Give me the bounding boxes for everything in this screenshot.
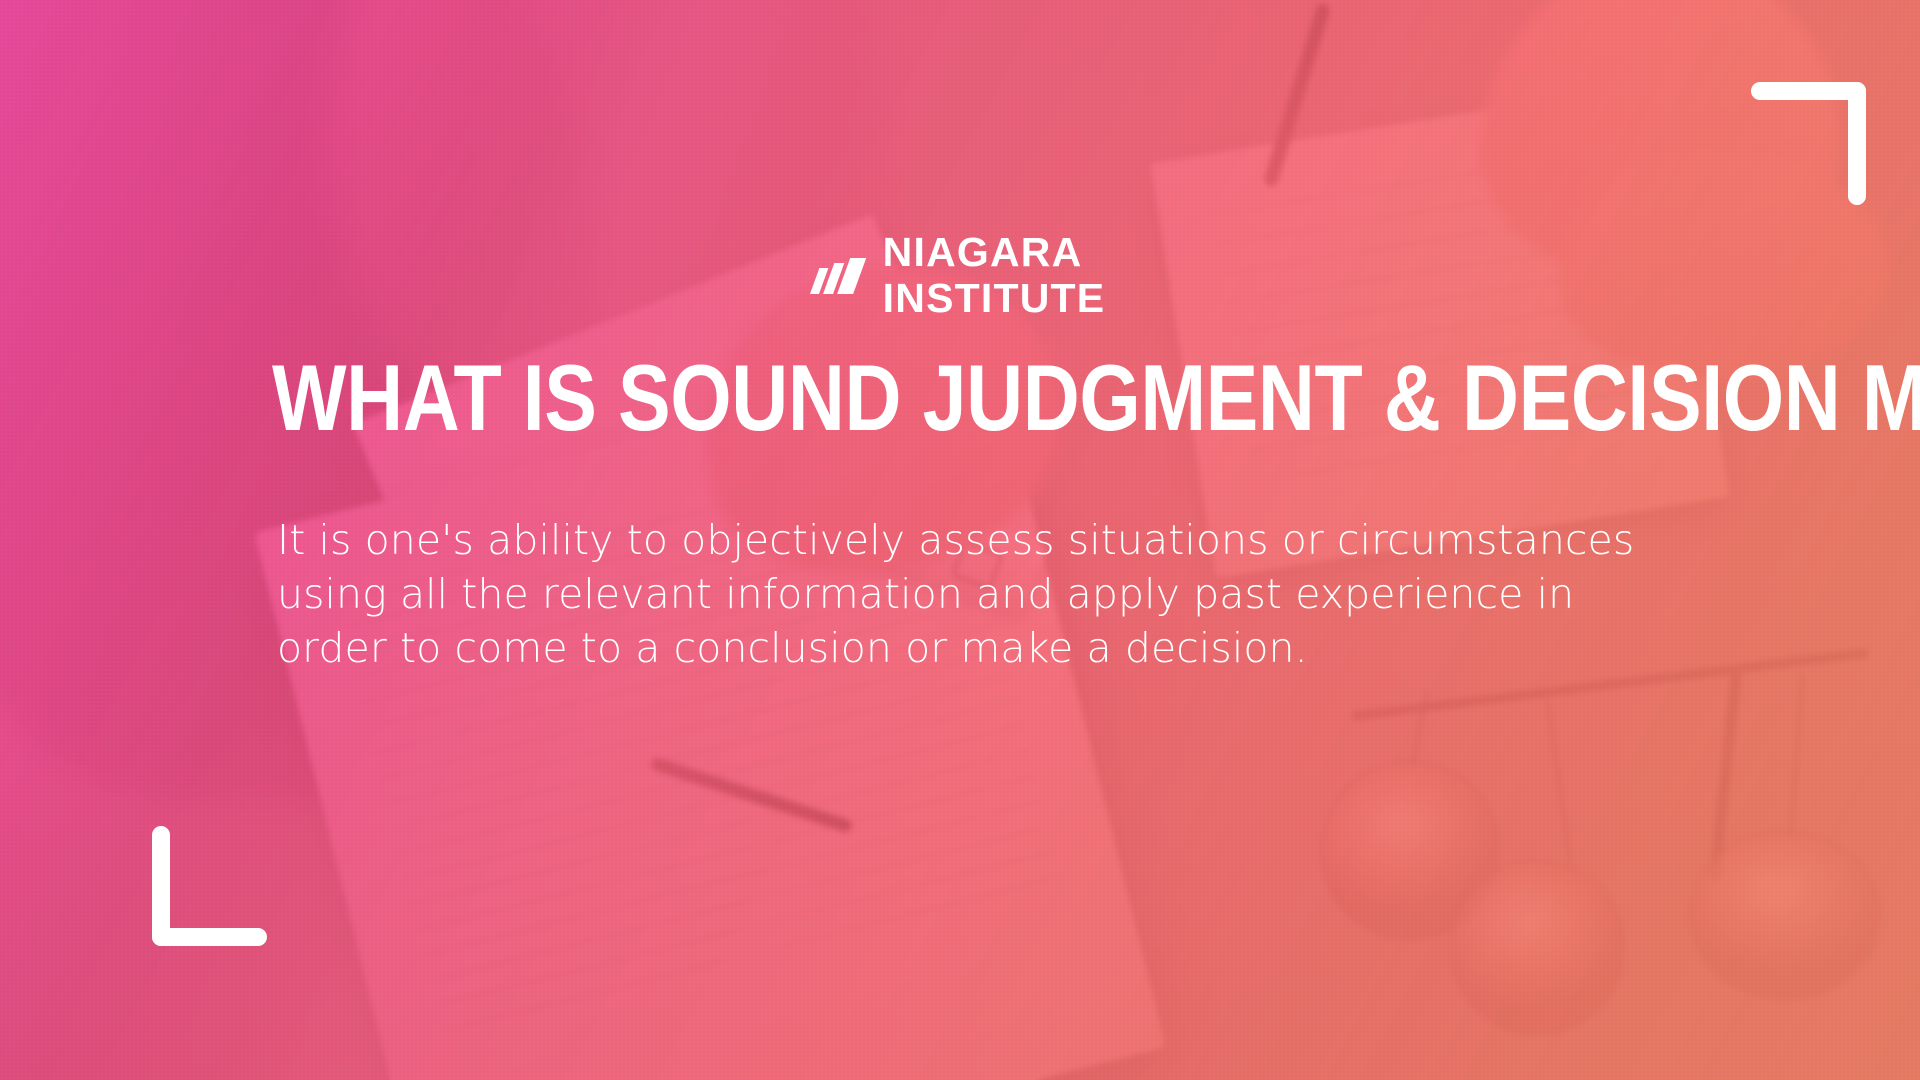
logo-word-niagara: NIAGARA xyxy=(883,232,1106,273)
body-paragraph: It is one's ability to objectively asses… xyxy=(277,513,1657,675)
bracket-bl-vertical-bar xyxy=(152,826,170,946)
slide-canvas: NIAGARA INSTITUTE WHAT IS SOUND JUDGMENT… xyxy=(0,0,1920,1080)
logo-wordmark: NIAGARA INSTITUTE xyxy=(883,232,1106,319)
slide-content: NIAGARA INSTITUTE WHAT IS SOUND JUDGMENT… xyxy=(0,0,1920,1080)
logo-word-institute: INSTITUTE xyxy=(883,278,1106,319)
bracket-tr-vertical-bar xyxy=(1848,82,1866,205)
corner-bracket-bottom-left-icon xyxy=(152,826,267,946)
corner-bracket-top-right-icon xyxy=(1751,82,1866,205)
page-title: WHAT IS SOUND JUDGMENT & DECISION MAKING… xyxy=(272,352,1920,443)
niagara-bars-icon xyxy=(815,258,862,294)
niagara-institute-logo: NIAGARA INSTITUTE xyxy=(815,232,1106,319)
